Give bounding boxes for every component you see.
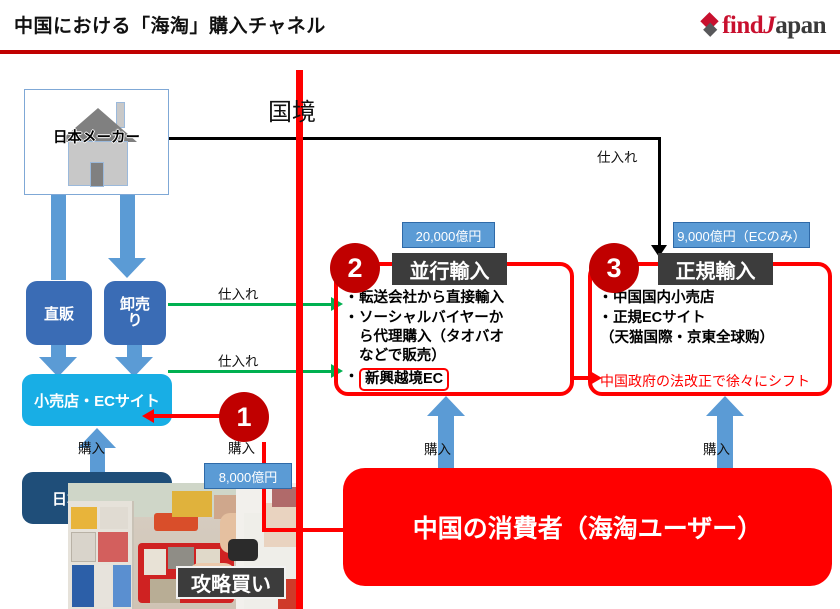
slide-root: 中国における「海淘」購入チャネル findJapan 国境 日本メーカー 直販 … bbox=[0, 0, 840, 609]
green-supply-label-top: 仕入れ bbox=[218, 283, 259, 303]
logo-wordmark: findJapan bbox=[722, 13, 826, 38]
japan-maker-label: 日本メーカー bbox=[24, 126, 169, 147]
wholesale-label: 卸売り bbox=[116, 297, 154, 330]
maker-to-wholesale-arrowhead bbox=[108, 258, 146, 278]
channel2-purchase-label: 購入 bbox=[424, 438, 451, 458]
channel2-purchase-arrowhead bbox=[427, 396, 465, 416]
black-supply-label: 仕入れ bbox=[597, 146, 638, 166]
slide-header: 中国における「海淘」購入チャネル findJapan bbox=[0, 0, 840, 52]
diamond-logo-icon bbox=[696, 12, 723, 39]
parallel-to-regular-arrowhead bbox=[590, 371, 602, 385]
logo-apan-text: apan bbox=[775, 12, 826, 39]
list-item: ・ 正規ECサイト bbox=[598, 309, 828, 328]
findjapan-logo: findJapan bbox=[700, 8, 826, 42]
green-supply-line-top bbox=[168, 303, 333, 306]
maker-black-line-horizontal bbox=[169, 137, 661, 140]
list-item: ・ 中国国内小売店 bbox=[598, 289, 828, 308]
border-label: 国境 bbox=[268, 92, 316, 127]
china-consumer-box: 中国の消費者（海淘ユーザー） bbox=[343, 468, 832, 586]
bullet-text: 正規ECサイト bbox=[613, 309, 828, 328]
direct-sales-box: 直販 bbox=[26, 281, 92, 345]
channel3-purchase-label: 購入 bbox=[703, 438, 730, 458]
bullet-text-highlight: 新興越境EC bbox=[359, 368, 570, 391]
regular-import-amount-badge: 9,000億円（ECのみ） bbox=[673, 222, 810, 248]
direct-sales-label: 直販 bbox=[44, 303, 74, 324]
national-border-line bbox=[296, 70, 303, 609]
bullet-text: 転送会社から直接輸入 bbox=[359, 289, 570, 308]
bullet-dot-icon: ・ bbox=[344, 309, 359, 328]
daigou-photo-caption: 攻略買い bbox=[176, 566, 286, 599]
list-item-highlighted: ・ 新興越境EC bbox=[344, 368, 570, 391]
page-title: 中国における「海淘」購入チャネル bbox=[14, 11, 326, 38]
retail-ec-label: 小売店・ECサイト bbox=[34, 390, 160, 411]
regular-import-title: 正規輸入 bbox=[658, 253, 773, 285]
list-item: ・ 転送会社から直接輸入 bbox=[344, 289, 570, 308]
header-divider bbox=[0, 50, 840, 54]
new-cross-border-ec-label: 新興越境EC bbox=[359, 368, 449, 391]
parallel-import-title: 並行輸入 bbox=[392, 253, 507, 285]
jp-purchase-label: 購入 bbox=[78, 437, 105, 457]
channel-3-number-badge: 3 bbox=[589, 243, 639, 293]
parallel-import-bullets: ・ 転送会社から直接輸入 ・ ソーシャルバイヤーか ら代理購入（タオバオ などで… bbox=[344, 289, 570, 392]
list-item: ・ ソーシャルバイヤーか ら代理購入（タオバオ などで販売） bbox=[344, 309, 570, 366]
channel3-purchase-arrowhead bbox=[706, 396, 744, 416]
bullet-dot-icon: ・ bbox=[344, 368, 359, 387]
daigou-amount-badge: 8,000億円 bbox=[204, 463, 292, 489]
maker-to-wholesale-connector bbox=[120, 195, 135, 260]
policy-shift-note: 中国政府の法改正で徐々にシフト bbox=[600, 371, 810, 391]
daigou-to-retail-line bbox=[152, 414, 222, 418]
maker-black-line-vertical bbox=[658, 137, 661, 249]
maker-to-direct-connector bbox=[51, 195, 66, 280]
channel-1-number-badge: 1 bbox=[219, 392, 269, 442]
consumer-to-daigou-horizontal bbox=[262, 528, 347, 532]
green-supply-label-bottom: 仕入れ bbox=[218, 350, 259, 370]
regular-import-bullets: ・ 中国国内小売店 ・ 正規ECサイト （天猫国際・京東全球购） bbox=[598, 289, 828, 348]
bullet-text: 中国国内小売店 bbox=[613, 289, 828, 308]
wholesale-box: 卸売り bbox=[104, 281, 166, 345]
parallel-import-amount-badge: 20,000億円 bbox=[402, 222, 495, 248]
bullet-text: ソーシャルバイヤーか ら代理購入（タオバオ などで販売） bbox=[359, 309, 570, 366]
logo-find-text: find bbox=[722, 12, 763, 39]
regular-import-subline: （天猫国際・京東全球购） bbox=[600, 329, 828, 348]
logo-j-text: J bbox=[763, 12, 775, 39]
daigou-to-retail-arrowhead bbox=[142, 409, 154, 423]
bullet-dot-icon: ・ bbox=[598, 309, 613, 328]
green-supply-line-bottom bbox=[168, 370, 333, 373]
channel-2-number-badge: 2 bbox=[330, 243, 380, 293]
